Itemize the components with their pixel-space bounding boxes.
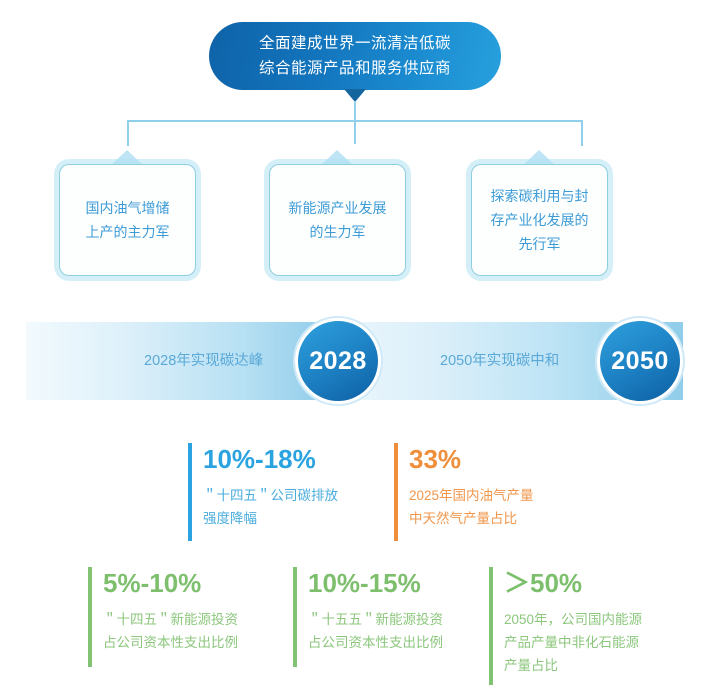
feature-box-label: 新能源产业发展 的生力军 xyxy=(289,196,387,244)
timeline-label-2028: 2028年实现碳达峰 xyxy=(144,350,263,372)
stat-value: ＞50% xyxy=(504,567,685,599)
stat-value: 10%-15% xyxy=(308,567,489,599)
feature-box-new-energy: 新能源产业发展 的生力军 xyxy=(269,164,406,276)
stat-description: 2050年，公司国内能源 产品产量中非化石能源 产量占比 xyxy=(504,608,685,677)
connector-drop-right xyxy=(581,120,583,146)
stat-value: 10%-18% xyxy=(203,443,378,475)
stat-description: ＂十四五＂公司碳排放 强度降幅 xyxy=(203,484,378,530)
feature-box-oil-gas: 国内油气增储 上产的主力军 xyxy=(59,164,196,276)
timeline-badge-year: 2028 xyxy=(309,347,367,376)
feature-box-label: 国内油气增储 上产的主力军 xyxy=(86,196,170,244)
stat-natural-gas-share: 33% 2025年国内油气产量 中天然气产量占比 xyxy=(394,443,584,541)
stat-15th-five-year-investment: 10%-15% ＂十五五＂新能源投资 占公司资本性支出比例 xyxy=(293,567,489,667)
stat-14th-five-year-investment: 5%-10% ＂十四五＂新能源投资 占公司资本性支出比例 xyxy=(88,567,284,667)
stat-value: 5%-10% xyxy=(103,567,284,599)
timeline-badge-year: 2050 xyxy=(611,347,669,376)
vision-banner: 全面建成世界一流清洁低碳 综合能源产品和服务供应商 xyxy=(209,22,501,90)
timeline-label-2050: 2050年实现碳中和 xyxy=(440,350,559,372)
vision-banner-title: 全面建成世界一流清洁低碳 综合能源产品和服务供应商 xyxy=(259,31,451,81)
stat-accent-bar xyxy=(88,567,92,667)
stat-value: 33% xyxy=(409,443,584,475)
connector-vertical-top xyxy=(354,101,356,144)
stat-accent-bar xyxy=(188,443,192,541)
stat-carbon-intensity: 10%-18% ＂十四五＂公司碳排放 强度降幅 xyxy=(188,443,378,541)
stat-description: ＂十四五＂新能源投资 占公司资本性支出比例 xyxy=(103,608,284,654)
stat-non-fossil-share-2050: ＞50% 2050年，公司国内能源 产品产量中非化石能源 产量占比 xyxy=(489,567,685,685)
stat-accent-bar xyxy=(293,567,297,667)
feature-box-label: 探索碳利用与封 存产业化发展的 先行军 xyxy=(491,184,589,256)
stat-description: ＂十五五＂新能源投资 占公司资本性支出比例 xyxy=(308,608,489,654)
stat-accent-bar xyxy=(489,567,493,685)
timeline-badge-2028: 2028 xyxy=(295,318,381,404)
timeline-badge-2050: 2050 xyxy=(597,318,683,404)
feature-box-carbon-storage: 探索碳利用与封 存产业化发展的 先行军 xyxy=(471,164,608,276)
stat-accent-bar xyxy=(394,443,398,541)
stat-description: 2025年国内油气产量 中天然气产量占比 xyxy=(409,484,584,530)
connector-drop-left xyxy=(127,120,129,146)
connector-horizontal xyxy=(127,120,583,122)
